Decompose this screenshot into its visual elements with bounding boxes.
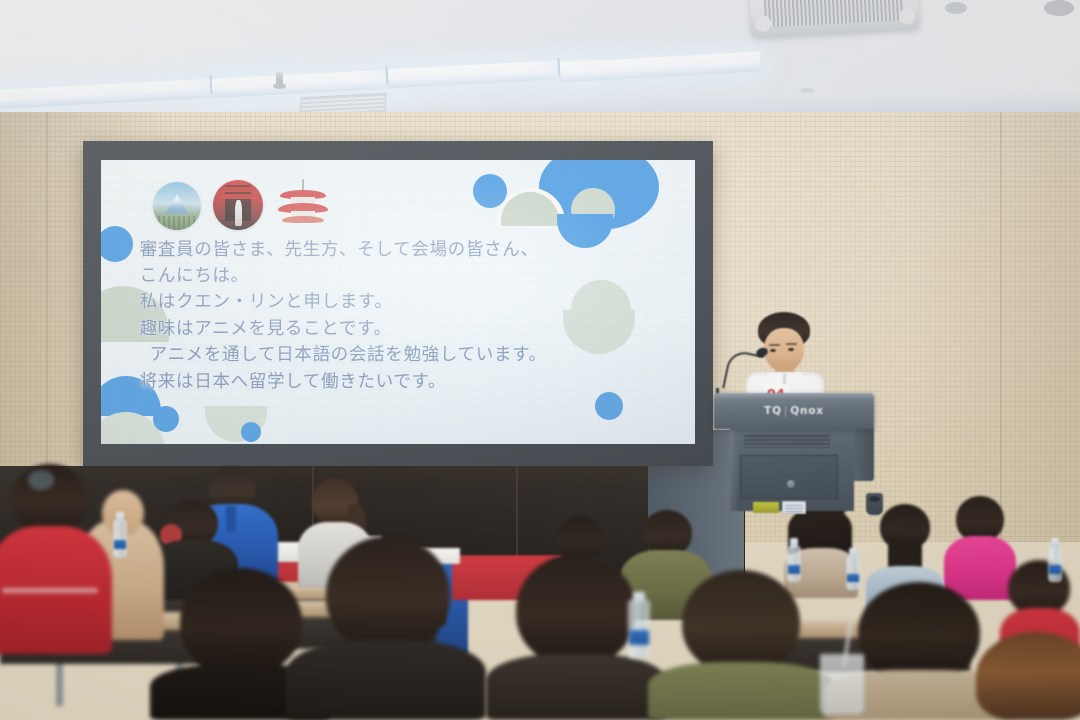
water-bottle — [113, 512, 127, 558]
pagoda-illustration — [277, 178, 329, 232]
podium-info-label — [782, 501, 806, 514]
slide-line: 私はクエン・リンと申します。 — [140, 289, 686, 315]
slide-line: 将来は日本へ留学して働きたいです。 — [140, 369, 686, 395]
podium-body — [730, 427, 854, 511]
slide-text-block: 審査員の皆さま、先生方、そして会場の皆さん、 こんにちは。 私はクエン・リンと申… — [140, 237, 686, 395]
podium-knob[interactable] — [787, 480, 795, 488]
slide-line: アニメを通して日本語の会話を勉強しています。 — [140, 342, 686, 368]
water-bottle — [1048, 538, 1062, 582]
slide-line: 審査員の皆さま、先生方、そして会場の皆さん、 — [140, 237, 686, 263]
podium-warning-label — [753, 502, 779, 513]
podium-vent — [744, 435, 830, 448]
podium-logo: TQ|Qnox — [714, 405, 874, 417]
audience-person-front — [286, 536, 486, 720]
podium-logo-primary: TQ — [764, 405, 782, 417]
podium-logo-secondary: Qnox — [790, 405, 824, 417]
podium-top: TQ|Qnox — [714, 393, 874, 429]
audience-person-front — [0, 464, 114, 654]
projection-screen-frame: 審査員の皆さま、先生方、そして会場の皆さん、 こんにちは。 私はクエン・リンと申… — [83, 141, 713, 466]
projection-screen: 審査員の皆さま、先生方、そして会場の皆さん、 こんにちは。 私はクエン・リンと申… — [101, 160, 695, 444]
slide-deco-circle — [241, 422, 261, 442]
mount-fuji-photo — [153, 182, 201, 230]
ceiling-mark — [800, 88, 814, 93]
ceiling-fixture — [1044, 0, 1074, 16]
drinking-cup — [820, 654, 864, 714]
water-bottle — [628, 592, 650, 658]
ac-grille-icon — [763, 0, 905, 28]
sprinkler-icon — [276, 72, 283, 86]
audience-person-front — [648, 570, 834, 720]
slide-line: こんにちは。 — [140, 263, 686, 289]
slide-deco-circle — [101, 226, 133, 262]
slide-deco-circle — [153, 406, 179, 432]
audience-person-front — [968, 632, 1080, 720]
lecture-hall-scene: 審査員の皆さま、先生方、そして会場の皆さん、 こんにちは。 私はクエン・リンと申… — [0, 0, 1080, 720]
podium-equipment-panel — [740, 455, 838, 499]
torii-gate-photo — [213, 180, 263, 230]
podium-cup-holder — [866, 493, 883, 515]
podium: TQ|Qnox — [714, 393, 874, 511]
slide-deco-circle — [595, 392, 623, 420]
ceiling-fixture — [945, 2, 967, 14]
podium-logo-separator: | — [782, 405, 790, 417]
slide-line: 趣味はアニメを見ることです。 — [140, 316, 686, 342]
